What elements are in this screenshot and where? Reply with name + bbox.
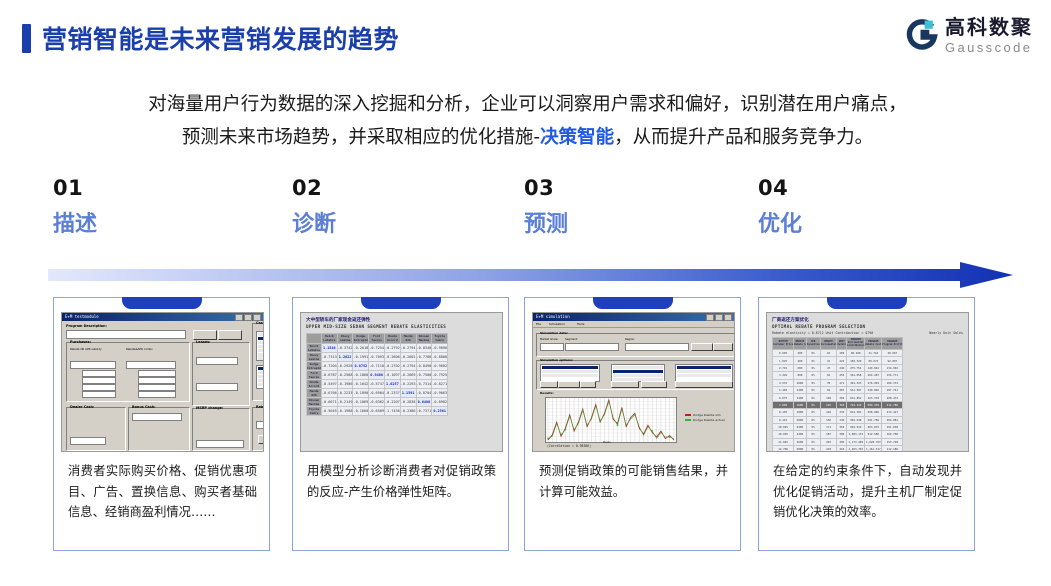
rebate-cell: 287 — [837, 386, 847, 393]
simulation-chart — [545, 397, 677, 443]
rebate-cell: 0% — [806, 409, 820, 416]
step-03: 03 预测 — [524, 176, 734, 200]
card-describe[interactable]: E+M testmodule Program Description: Purc… — [53, 297, 270, 551]
matrix-cell: -0.1890 — [353, 389, 369, 398]
table-row: DodgeIntrepid-0.7204-0.29280.8752-0.7110… — [307, 362, 448, 371]
save-button[interactable] — [713, 343, 733, 351]
term-field[interactable] — [82, 370, 116, 377]
intro-line-2: 预测未来市场趋势，并采取相应的优化措施-决策智能，从而提升产品和服务竞争力。 — [40, 121, 1015, 154]
rebate-cell: 212.780 — [882, 401, 903, 408]
matrix-cell: -0.7313 — [321, 353, 337, 362]
rebate-cell: 2200 — [794, 423, 807, 430]
model-select[interactable] — [256, 421, 264, 429]
clear-button[interactable] — [258, 435, 264, 444]
matrix-cell: -0.6671 — [321, 398, 337, 407]
matrix-cell: -0.2669 — [400, 371, 416, 380]
rebate-cell: 722.119 — [847, 401, 865, 408]
sub-label: Rebate OR APR subsidy — [70, 347, 102, 351]
rebate-cell: 209 — [837, 350, 847, 357]
rebate-cell: 156.771 — [882, 372, 903, 379]
group-label: Program Description: — [66, 324, 107, 328]
chart-x-label: Weeks — [603, 441, 611, 444]
matrix-cell: -0.2386 — [400, 407, 416, 416]
matrix-cell: -0.2337 — [385, 389, 401, 398]
matrix-cell: -0.8704 — [416, 389, 432, 398]
logo-name-en: Gausscode — [945, 41, 1033, 54]
msrp-change-field[interactable] — [196, 440, 244, 448]
rebate-cell: 2600 — [794, 438, 807, 445]
matrix-cell: -0.6766 — [321, 389, 337, 398]
matrix-col-header: ChevyLumina — [337, 334, 353, 344]
matrix-cell: -0.5497 — [321, 380, 337, 389]
rate-field[interactable] — [138, 391, 176, 398]
card-caption: 预测促销政策的可能销售结果，并计算可能效益。 — [539, 461, 728, 502]
intro-paragraph: 对海量用户行为数据的深入挖掘和分析，企业可以洞察用户需求和偏好，识别潜在用户痛点… — [40, 88, 1015, 154]
table-row: HondaAccord-0.5497-0.1986-0.1642-0.57471… — [307, 380, 448, 389]
rebate-cell: 491.323 — [847, 379, 865, 386]
rebate-cell: 275.754 — [847, 364, 865, 371]
rebate-cell: 0% — [806, 431, 820, 438]
rebate-cell: 0% — [806, 350, 820, 357]
select-all-button[interactable] — [611, 381, 639, 388]
rebate-cell: 2000 — [794, 416, 807, 423]
rebate-cell: 171 — [820, 423, 837, 430]
rebate-cell: 62 — [820, 372, 837, 379]
rebate-cell: 0% — [806, 446, 820, 452]
table-row: 12.70628000%2184101,263.7031,161.517112.… — [773, 446, 903, 452]
logo-name-cn: 高科数聚 — [945, 17, 1033, 37]
step-number: 02 — [292, 176, 502, 200]
matrix-cell: -0.9663 — [432, 389, 448, 398]
rebate-cell: 0% — [806, 416, 820, 423]
matrix-cell: -0.7110 — [369, 362, 385, 371]
legend-sim: Dodge Dakota sim — [693, 413, 721, 417]
menu-file[interactable]: File — [536, 322, 541, 326]
rebate-cell: 302 — [837, 394, 847, 401]
matrix-cell: -0.2293 — [400, 380, 416, 389]
model-listbox[interactable] — [611, 364, 665, 382]
clear-all-button[interactable] — [641, 381, 667, 388]
step-label: 预测 — [524, 212, 568, 238]
matrix-col-header: NissanMaxima — [416, 334, 432, 344]
matrix-cell: -0.7093 — [369, 353, 385, 362]
rebate-cell: 0% — [806, 386, 820, 393]
rate-field[interactable] — [138, 384, 176, 391]
rebate-cell: 180.374 — [882, 379, 903, 386]
table-row: 10.93524000%1873801,083.172912.586169.70… — [773, 431, 903, 438]
step-row: 01 描述 02 诊断 03 预测 04 优化 — [0, 176, 1051, 254]
matrix-cell: 0.9480 — [369, 371, 385, 380]
elasticity-matrix-table: BuickLaSabreChevyLuminaDodgeIntrepidFord… — [306, 333, 448, 416]
group-label: MSRP change: — [196, 406, 223, 410]
rebate-cell: 2400 — [794, 431, 807, 438]
matrix-cell: -0.6589 — [369, 407, 385, 416]
rebate-cell: 48.667 — [882, 350, 903, 357]
rebate-cell: 153.728 — [882, 438, 903, 445]
segment-select[interactable] — [565, 343, 619, 351]
table-row: 0.9952000%1620990.26841.71048.667 — [773, 350, 903, 357]
rebate-cell: 10.025 — [773, 423, 794, 430]
intro-line-1: 对海量用户行为数据的深入挖掘和分析，企业可以洞察用户需求和偏好，识别潜在用户痛点… — [40, 88, 1015, 121]
term-field[interactable] — [82, 384, 116, 391]
step-number: 01 — [53, 176, 263, 200]
rebate-cell: 191.038 — [882, 423, 903, 430]
title-text: 营销智能是未来营销发展的趋势 — [42, 20, 399, 56]
step-label: 诊断 — [292, 212, 336, 238]
matrix-cell: -0.8271 — [432, 380, 448, 389]
window-titlebar: E+M simulation — [533, 313, 734, 321]
matrix-cell: -1.7436 — [385, 407, 401, 416]
card-tab — [122, 297, 202, 309]
apr-select[interactable] — [126, 361, 176, 369]
matrix-row-header: Mazda626 — [307, 389, 322, 398]
output-listbox[interactable] — [675, 364, 733, 382]
rebate-cell: 541.587 — [847, 386, 865, 393]
menu-bar[interactable]: File Simulation Tools — [533, 321, 734, 328]
card-tab — [593, 297, 673, 309]
step-02: 02 诊断 — [292, 176, 502, 200]
rebate-cell: 364 — [837, 423, 847, 430]
group-label: Case incentives — [256, 321, 264, 325]
table-row: 7.09516000%125318722.119509.339212.780 — [773, 401, 903, 408]
card-screenshot-simulation: E+M simulation File Simulation Tools Sim… — [532, 312, 735, 452]
matrix-cell: -0.2928 — [337, 362, 353, 371]
matrix-row-header: ToyotaCamry — [307, 407, 322, 416]
rebate-cell: 395 — [837, 438, 847, 445]
intro-highlight: 决策智能 — [540, 127, 614, 148]
rebate-cell: 0% — [806, 379, 820, 386]
intro-line-2-part-b: ，从而提升产品和服务竞争力。 — [614, 127, 873, 148]
rebate-cell: 0.995 — [773, 350, 794, 357]
table-row: ToyotaCamry-0.5645-0.1988-0.1660-0.6589-… — [307, 407, 448, 416]
bonus-cash-field[interactable] — [132, 413, 182, 421]
rebate-cell: 1.025 — [773, 357, 794, 364]
matrix-row-header: FordTaurus — [307, 371, 322, 380]
rebate-title-en: OPTIMAL REBATE PROGRAM SELECTION — [772, 324, 865, 329]
rebate-col-header: APRIncentive — [806, 338, 820, 350]
card-predict[interactable]: E+M simulation File Simulation Tools Sim… — [524, 297, 741, 551]
table-row: 1.0254000%31224182.32989.67292.807 — [773, 357, 903, 364]
menu-simulation[interactable]: Simulation — [549, 322, 565, 326]
matrix-cell: 1.1591 — [400, 389, 416, 398]
rebate-cell: 1000 — [794, 379, 807, 386]
rebate-cell: 187 — [820, 431, 837, 438]
matrix-cell: -0.2838 — [400, 398, 416, 407]
rebate-cell: 361.058 — [847, 372, 865, 379]
matrix-cell: 0.8752 — [353, 362, 369, 371]
rebate-cell: 276.949 — [865, 379, 882, 386]
rebate-cell: 400 — [794, 357, 807, 364]
matrix-cell: -0.2233 — [337, 389, 353, 398]
rebate-cell: 213.427 — [882, 409, 903, 416]
slide-header: 营销智能是未来营销发展的趋势 高科数聚 Gausscode — [0, 0, 1051, 72]
rebate-cell: 0% — [806, 357, 820, 364]
rebate-cell: 208.472 — [882, 394, 903, 401]
rebate-cell: 182.329 — [847, 357, 865, 364]
table-row: 2.7196000%47240275.754140.842134.902 — [773, 364, 903, 371]
table-row: ChevyLumina-0.73131.2622-0.1991-0.7093-0… — [307, 353, 448, 362]
rebate-cell: 2.719 — [773, 364, 794, 371]
matrix-cell: -0.3742 — [337, 344, 353, 353]
rebate-cell: 0% — [806, 372, 820, 379]
table-row: 9.11520000%156349902.648691.766204.881 — [773, 416, 903, 423]
rebate-cell: 992.910 — [847, 423, 865, 430]
rebate-cell: 255 — [837, 372, 847, 379]
matrix-cell: -0.5645 — [321, 407, 337, 416]
group-label: Dealer Cash: — [70, 405, 94, 409]
rebate-col-header: REBATERebate $ — [794, 338, 807, 350]
rebate-cell: 89.672 — [865, 357, 882, 364]
rebate-cell: 803.875 — [865, 423, 882, 430]
rebate-cell: 187.741 — [882, 386, 903, 393]
matrix-col-header: BuickLaSabre — [321, 334, 337, 344]
window-title: E+M simulation — [536, 314, 570, 319]
step-number: 03 — [524, 176, 734, 200]
rebate-cell: 1,161.517 — [865, 446, 882, 452]
rebate-cell: 3.449 — [773, 372, 794, 379]
matrix-cell: -0.9602 — [432, 362, 448, 371]
card-screenshot-elasticity: 大中型轿车的厂家现金返还弹性 UPPER MID-SIZE SEDAN SEGM… — [300, 312, 503, 452]
matrix-cell: -0.1860 — [353, 371, 369, 380]
legend-actual: Dodge Dakota actual — [693, 418, 725, 422]
table-row: NissanMaxima-0.6671-0.2149-0.1869-0.6362… — [307, 398, 448, 407]
rebate-cell: 509.339 — [865, 401, 882, 408]
dealer-cash-select[interactable] — [70, 437, 106, 445]
rebate-cell: 340.846 — [865, 386, 882, 393]
rebate-cell: 333 — [837, 409, 847, 416]
matrix-cell: -0.8340 — [416, 344, 432, 353]
matrix-cell: -0.2792 — [385, 344, 401, 353]
card-row: E+M testmodule Program Description: Purc… — [0, 297, 1051, 553]
rebate-cell: 6.075 — [773, 394, 794, 401]
rebate-cell: 600 — [794, 364, 807, 371]
matrix-cell: -0.1991 — [353, 353, 369, 362]
field-label: Region: — [625, 337, 635, 341]
matrix-cell: 1.1548 — [321, 344, 337, 353]
term-field[interactable] — [82, 391, 116, 398]
step-number: 04 — [758, 176, 968, 200]
table-row: Mazda626-0.6766-0.2233-0.1890-0.6904-0.2… — [307, 389, 448, 398]
description-input[interactable] — [66, 330, 186, 339]
rebate-col-header: BOTTOMCustomer Price — [773, 338, 794, 350]
rebate-col-header: PROGRAMProgram Profit — [882, 338, 903, 350]
card-caption: 消费者实际购买价格、促销优惠项目、广告、置换信息、购买者基础信息、经销商盈利情况… — [68, 461, 257, 523]
group-label: Simulation data: — [540, 331, 568, 335]
rebate-cell: 423.370 — [865, 394, 882, 401]
group-label: Leases: — [196, 340, 210, 344]
term-field[interactable] — [82, 377, 116, 384]
rebate-cell: 16 — [820, 350, 837, 357]
matrix-cell: -0.6787 — [321, 371, 337, 380]
slide-root: 营销智能是未来营销发展的趋势 高科数聚 Gausscode 对海量用户行为数据的… — [0, 0, 1051, 586]
rebate-cell: 218 — [820, 446, 837, 452]
matrix-title-cn: 大中型轿车的厂家现金返还弹性 — [306, 317, 370, 323]
sub-label: Rebate&APR combo — [126, 347, 153, 351]
rebate-cell: 10.935 — [773, 431, 794, 438]
rebate-cell: 812.381 — [847, 409, 865, 416]
card-caption: 在给定的约束条件下，自动发现并优化促销活动，提升主机厂制定促销优化决策的效率。 — [773, 461, 962, 523]
rebate-cell: 598.906 — [865, 409, 882, 416]
matrix-cell: -0.1988 — [337, 407, 353, 416]
rebate-cell: 169.700 — [882, 431, 903, 438]
rebate-cell: 1200 — [794, 386, 807, 393]
title-accent-bar — [22, 24, 31, 53]
rebate-cell: 240 — [837, 364, 847, 371]
rebate-cell: 112.186 — [882, 446, 903, 452]
matrix-cell: -0.7254 — [369, 344, 385, 353]
page-title: 营销智能是未来营销发展的趋势 — [22, 20, 399, 56]
rebate-cell: 47 — [820, 364, 837, 371]
matrix-cell: -0.2149 — [337, 398, 353, 407]
table-row: 11.84526000%2033951,173.4091,028.763153.… — [773, 438, 903, 445]
menu-tools[interactable]: Tools — [577, 322, 584, 326]
matrix-cell: -0.1869 — [353, 398, 369, 407]
matrix-cell: 0.6480 — [416, 398, 432, 407]
card-screenshot-dialog: E+M testmodule Program Description: Purc… — [61, 312, 264, 452]
save-button[interactable] — [193, 330, 217, 340]
rebate-cell: 631.852 — [847, 394, 865, 401]
optimal-rebate-table: BOTTOMCustomer PriceREBATERebate $APRInc… — [772, 337, 903, 452]
matrix-cell: -0.1986 — [337, 380, 353, 389]
matrix-cell: -0.7925 — [432, 371, 448, 380]
rebate-cell: 691.766 — [865, 416, 882, 423]
rebate-select[interactable] — [70, 361, 116, 369]
matrix-cell: -0.2018 — [353, 344, 369, 353]
group-label: Results: — [540, 391, 554, 395]
matrix-cell: -0.1697 — [385, 371, 401, 380]
rate-field[interactable] — [138, 377, 176, 384]
rebate-cell: 8.195 — [773, 409, 794, 416]
matrix-cell: -0.7204 — [321, 362, 337, 371]
matrix-cell: -0.2702 — [385, 362, 401, 371]
matrix-cell: -0.2606 — [385, 353, 401, 362]
rebate-cell: 318 — [837, 401, 847, 408]
rebate-cell: 12.706 — [773, 446, 794, 452]
card-screenshot-optimal-rebate: 厂商返还方案优化 OPTIMAL REBATE PROGRAM SELECTIO… — [766, 312, 969, 452]
rebate-cell: 1,083.172 — [847, 431, 865, 438]
window-titlebar: E+M testmodule — [62, 313, 263, 321]
rebate-cell: 134.902 — [882, 364, 903, 371]
matrix-col-header: HondaAccord — [385, 334, 401, 344]
step-label: 描述 — [53, 212, 97, 238]
correlation-note: (Correlation = 0.98386) — [547, 444, 591, 448]
rebate-cell: 1,263.703 — [847, 446, 865, 452]
simulation-listbox[interactable] — [540, 364, 600, 382]
table-row: 10.02522000%171364992.910803.875191.038 — [773, 423, 903, 430]
rebate-corner-note: Nearly Unit Sales — [929, 331, 963, 335]
card-tab — [361, 297, 441, 309]
matrix-cell: -0.2794 — [400, 344, 416, 353]
rebate-cell: 1400 — [794, 394, 807, 401]
window-buttons — [706, 314, 732, 321]
rebate-cell: 1,028.763 — [865, 438, 882, 445]
rebate-cell: 140 — [820, 409, 837, 416]
rebate-cell: 140.842 — [865, 364, 882, 371]
rebate-cell: 349 — [837, 416, 847, 423]
matrix-cell: 1.0257 — [385, 380, 401, 389]
rebate-cell: 4.533 — [773, 379, 794, 386]
rebate-subtitle: Rebate elasticity = 0.8712 Unit Contribu… — [772, 331, 873, 335]
matrix-cell: -0.2602 — [400, 353, 416, 362]
table-row: 3.4498000%62255361.058204.287156.771 — [773, 372, 903, 379]
close-button[interactable] — [218, 330, 242, 340]
rebate-cell: 9.115 — [773, 416, 794, 423]
matrix-cell: -0.1642 — [353, 380, 369, 389]
rebate-cell: 0% — [806, 401, 820, 408]
rebate-cell: 380 — [837, 431, 847, 438]
rebate-cell: 1600 — [794, 401, 807, 408]
rebate-cell: 271 — [837, 379, 847, 386]
graph-button[interactable] — [675, 381, 733, 388]
rebate-cell: 410 — [837, 446, 847, 452]
rebate-cell: 7.095 — [773, 401, 794, 408]
region-select[interactable] — [625, 343, 689, 351]
rebate-col-header: REBATEIncremental — [820, 338, 837, 350]
step-01: 01 描述 — [53, 176, 263, 200]
rebate-cell: 31 — [820, 357, 837, 364]
rebate-cell: 203 — [820, 438, 837, 445]
lease-cash-select[interactable] — [196, 357, 238, 365]
matrix-cell: -0.1660 — [353, 407, 369, 416]
card-diagnose[interactable]: 大中型轿车的厂家现金返还弹性 UPPER MID-SIZE SEDAN SEGM… — [292, 297, 509, 551]
matrix-row-header: HondaAccord — [307, 380, 322, 389]
rebate-cell: 92.807 — [882, 357, 903, 364]
matrix-col-header: Mazda626 — [400, 334, 416, 344]
matrix-row-header: NissanMaxima — [307, 398, 322, 407]
matrix-cell: -0.2588 — [337, 371, 353, 380]
remove-button[interactable] — [558, 381, 580, 388]
matrix-row-header: BuickLaSabre — [307, 344, 322, 353]
start-clone-button[interactable] — [691, 343, 713, 351]
card-optimize[interactable]: 厂商返还方案优化 OPTIMAL REBATE PROGRAM SELECTIO… — [758, 297, 975, 551]
rebate-cell: 0% — [806, 364, 820, 371]
matrix-cell: -0.7500 — [416, 371, 432, 380]
intro-line-2-part-a: 预测未来市场趋势，并采取相应的优化措施- — [182, 127, 540, 148]
rate-field[interactable] — [138, 370, 176, 377]
matrix-cell: -0.2794 — [400, 362, 416, 371]
matrix-col-header: ToyotaCamry — [432, 334, 448, 344]
table-row: 4.53310000%78271491.323276.949180.374 — [773, 379, 903, 386]
matrix-cell: 0.2561 — [432, 407, 448, 416]
model-listbox[interactable] — [256, 331, 264, 361]
table-row: BuickLaSabre1.1548-0.3742-0.2018-0.7254-… — [307, 344, 448, 353]
rebate-cell: 800 — [794, 372, 807, 379]
matrix-cell: -0.7371 — [416, 407, 432, 416]
rebate-cell: 2800 — [794, 446, 807, 452]
market-share-select[interactable] — [540, 343, 564, 351]
money-factor-field[interactable] — [196, 383, 238, 391]
rebate-cell: 0% — [806, 438, 820, 445]
matrix-cell: -0.7314 — [416, 380, 432, 389]
table-row: 8.19518000%140333812.381598.906213.427 — [773, 409, 903, 416]
region-listbox[interactable] — [256, 365, 264, 389]
rebate-title-cn: 厂商返还方案优化 — [772, 317, 809, 323]
matrix-cell: -0.5747 — [369, 380, 385, 389]
step-04: 04 优化 — [758, 176, 968, 200]
rebate-cell: 902.648 — [847, 416, 865, 423]
group-label: Bonus Cash: — [132, 405, 156, 409]
edit-button[interactable] — [580, 381, 596, 388]
rebate-cell: 0% — [806, 394, 820, 401]
window-buttons — [235, 314, 261, 321]
add-button[interactable] — [540, 381, 558, 388]
rebate-col-header: UNITRetail — [837, 338, 847, 350]
table-row: 5.46912000%94287541.587340.846187.741 — [773, 386, 903, 393]
matrix-cell: -0.6904 — [369, 389, 385, 398]
rebate-cell: 94 — [820, 386, 837, 393]
rebate-cell: 200 — [794, 350, 807, 357]
rebate-cell: 1,173.409 — [847, 438, 865, 445]
